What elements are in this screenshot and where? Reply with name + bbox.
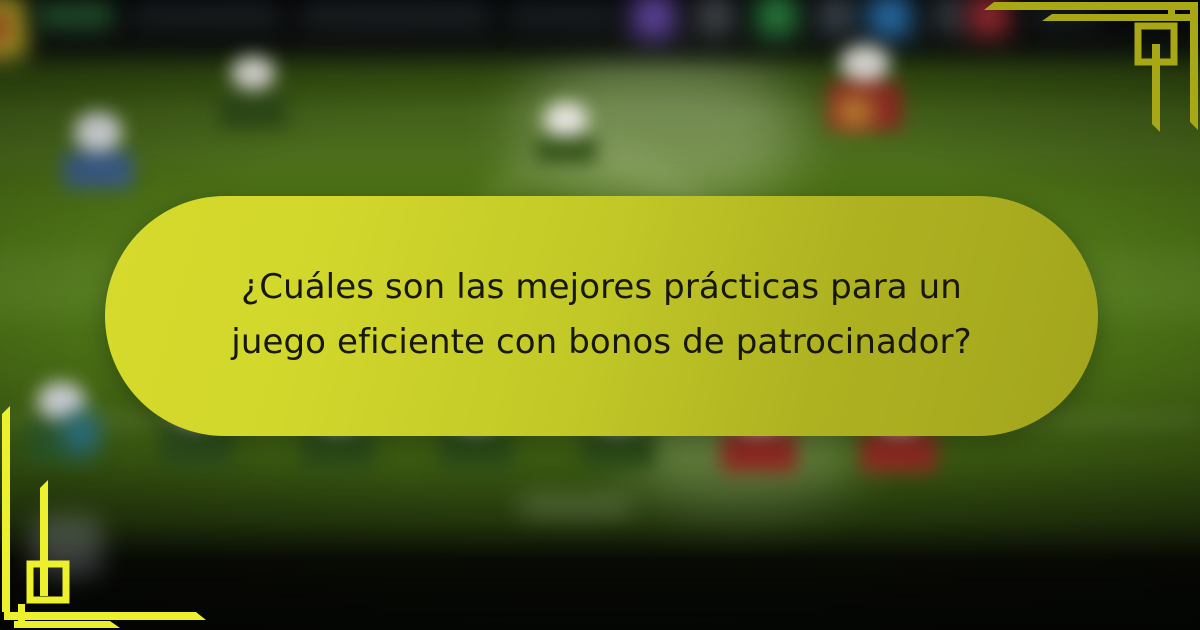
question-text: ¿Cuáles son las mejores prácticas para u… (222, 260, 982, 372)
question-line-2: juego eficiente con bonos de patrocinado… (231, 322, 971, 362)
og-image-canvas: ¿Cuáles son las mejores prácticas para u… (0, 0, 1200, 630)
question-line-1: ¿Cuáles son las mejores prácticas para u… (241, 267, 962, 307)
question-card: ¿Cuáles son las mejores prácticas para u… (105, 196, 1098, 436)
